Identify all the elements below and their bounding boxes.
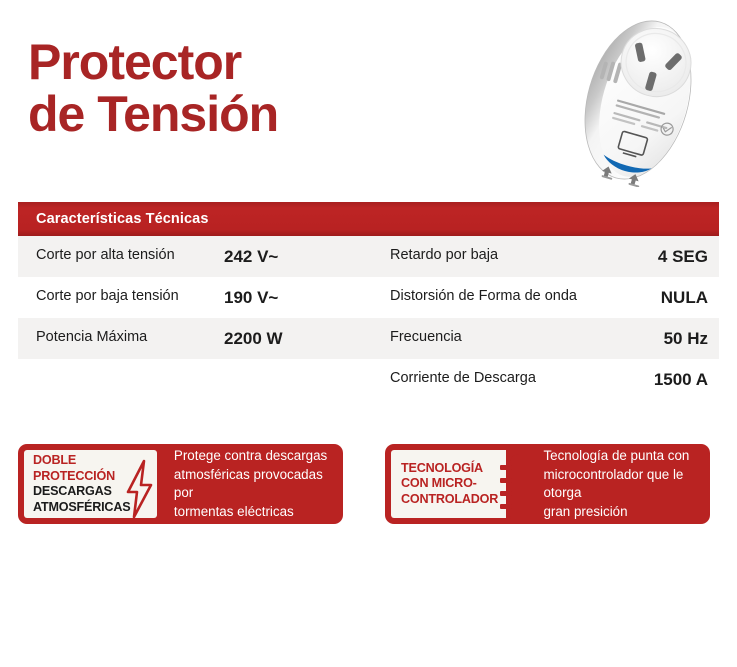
spec-value: 1500 A xyxy=(618,370,716,390)
badge-plate: TECNOLOGÍA CON MICRO- CONTROLADOR xyxy=(391,450,506,518)
spec-value: 242 V~ xyxy=(224,247,278,267)
badge-description: Protege contra descargas atmosféricas pr… xyxy=(157,444,343,524)
spec-label: Corte por alta tensión xyxy=(18,247,224,267)
spec-label: Retardo por baja xyxy=(368,247,618,267)
table-row: Corte por alta tensión 242 V~ Retardo po… xyxy=(18,236,719,277)
chip-pin xyxy=(500,465,512,470)
badge-plate: DOBLE PROTECCIÓN DESCARGAS ATMOSFÉRICAS xyxy=(24,450,157,518)
table-row: Corte por baja tensión 190 V~ Distorsión… xyxy=(18,277,719,318)
microcontroller-chip-icon xyxy=(500,454,532,524)
chip-pin xyxy=(500,491,512,496)
table-cell-group-left: Corte por baja tensión 190 V~ xyxy=(18,288,368,308)
feature-badge-surge-protection: DOBLE PROTECCIÓN DESCARGAS ATMOSFÉRICAS … xyxy=(18,444,343,524)
table-cell-group-left: Potencia Máxima 2200 W xyxy=(18,329,368,349)
table-cell-group-right: Corriente de Descarga 1500 A xyxy=(368,370,719,390)
table-row: Corriente de Descarga 1500 A xyxy=(18,359,719,400)
page-title: Protector de Tensión xyxy=(28,36,278,140)
feature-badge-microcontroller: TECNOLOGÍA CON MICRO- CONTROLADOR Tecnol… xyxy=(385,444,710,524)
chip-pin xyxy=(500,504,512,509)
table-cell-group-right: Frecuencia 50 Hz xyxy=(368,329,719,349)
spec-value: NULA xyxy=(618,288,716,308)
spec-label: Distorsión de Forma de onda xyxy=(368,288,618,308)
table-cell-group-right: Retardo por baja 4 SEG xyxy=(368,247,719,267)
spec-table-header: Características Técnicas xyxy=(18,202,719,236)
spec-label: Corte por baja tensión xyxy=(18,288,224,308)
badge-description: Tecnología de punta con microcontrolador… xyxy=(506,444,710,524)
spec-label: Corriente de Descarga xyxy=(368,370,618,390)
chip-pin xyxy=(500,478,512,483)
table-cell-group-right: Distorsión de Forma de onda NULA xyxy=(368,288,719,308)
spec-value: 2200 W xyxy=(224,329,283,349)
badge-plate-text: TECNOLOGÍA CON MICRO- CONTROLADOR xyxy=(401,461,498,508)
lightning-bolt-icon xyxy=(124,459,154,519)
table-row: Potencia Máxima 2200 W Frecuencia 50 Hz xyxy=(18,318,719,359)
badge-plate-text: DOBLE PROTECCIÓN DESCARGAS ATMOSFÉRICAS xyxy=(33,453,130,515)
badge-plate-text-primary: DOBLE PROTECCIÓN xyxy=(33,453,130,484)
badge-plate-text-secondary: DESCARGAS ATMOSFÉRICAS xyxy=(33,484,130,515)
voltage-protector-device-icon xyxy=(548,12,728,187)
spec-value: 4 SEG xyxy=(618,247,716,267)
table-cell-group-left: Corte por alta tensión 242 V~ xyxy=(18,247,368,267)
badge-plate-text-primary: TECNOLOGÍA CON MICRO- CONTROLADOR xyxy=(401,461,498,508)
spec-table: Características Técnicas Corte por alta … xyxy=(18,202,719,400)
spec-label: Frecuencia xyxy=(368,329,618,349)
spec-value: 50 Hz xyxy=(618,329,716,349)
product-photo xyxy=(548,12,728,187)
spec-value: 190 V~ xyxy=(224,288,278,308)
chip-body xyxy=(510,454,532,524)
spec-label: Potencia Máxima xyxy=(18,329,224,349)
